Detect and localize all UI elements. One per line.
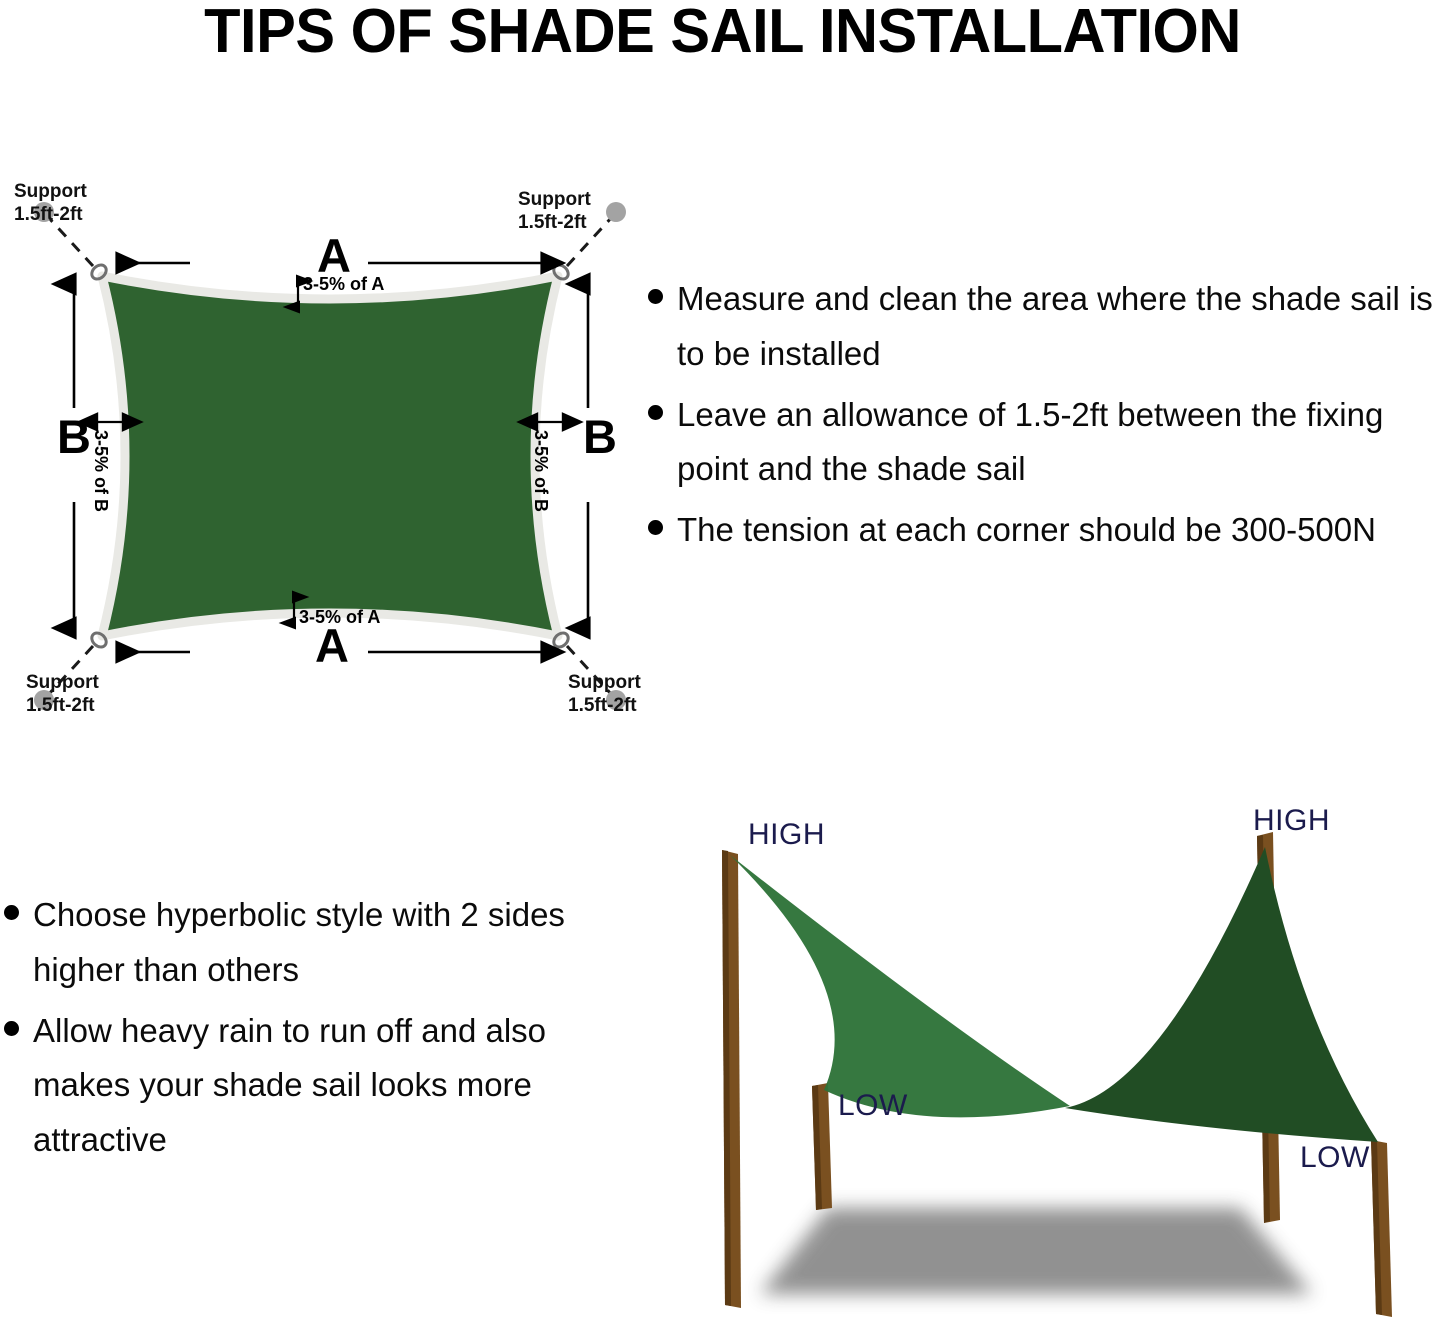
bullet-dot-icon (4, 1021, 19, 1036)
dimension-letter-bottom-a: A (315, 622, 349, 669)
corner-label-high-right: HIGH (1253, 804, 1330, 838)
bullet-dot-icon (648, 289, 663, 304)
list-item: Allow heavy rain to run off and also mak… (4, 1004, 612, 1168)
list-item-text: Measure and clean the area where the sha… (677, 272, 1445, 382)
post-low-left (812, 1083, 832, 1210)
support-label-line2: 1.5ft-2ft (26, 695, 95, 716)
dimension-letter-top-a: A (317, 232, 351, 279)
bullet-dot-icon (4, 905, 19, 920)
corner-label-low-right: LOW (1300, 1141, 1370, 1175)
tips-list-right: Measure and clean the area where the sha… (648, 272, 1445, 564)
support-label-line1: Support (14, 181, 87, 202)
bullet-dot-icon (648, 405, 663, 420)
infographic-page: TIPS OF SHADE SAIL INSTALLATION (0, 0, 1445, 1319)
list-item-text: The tension at each corner should be 300… (677, 503, 1445, 558)
dimension-letter-right-b: B (583, 413, 617, 460)
hyperbolic-sail-diagram (640, 790, 1445, 1319)
dimension-letter-left-b: B (57, 413, 91, 460)
shade-sail-shape (102, 276, 558, 636)
support-label-line1: Support (26, 672, 99, 693)
support-label-line2: 1.5ft-2ft (14, 204, 83, 225)
tolerance-label-bottom: 3-5% of A (299, 608, 380, 626)
tips-list-left: Choose hyperbolic style with 2 sides hig… (4, 888, 612, 1174)
list-item-text: Choose hyperbolic style with 2 sides hig… (33, 888, 612, 998)
post-low-right (1371, 1140, 1392, 1317)
support-label-top-left: Support1.5ft-2ft (14, 180, 87, 226)
list-item: Leave an allowance of 1.5-2ft between th… (648, 388, 1445, 498)
corner-label-high-left: HIGH (748, 818, 825, 852)
support-label-line2: 1.5ft-2ft (568, 695, 637, 716)
bullet-dot-icon (648, 520, 663, 535)
support-label-line1: Support (568, 672, 641, 693)
list-item-text: Leave an allowance of 1.5-2ft between th… (677, 388, 1445, 498)
list-item-text: Allow heavy rain to run off and also mak… (33, 1004, 612, 1168)
list-item: The tension at each corner should be 300… (648, 503, 1445, 558)
support-label-bottom-right: Support1.5ft-2ft (568, 671, 641, 717)
post-high-left (722, 850, 741, 1308)
support-label-bottom-left: Support1.5ft-2ft (26, 671, 99, 717)
corner-label-low-left: LOW (838, 1089, 908, 1123)
support-label-top-right: Support1.5ft-2ft (518, 188, 591, 234)
tolerance-label-top: 3-5% of A (303, 275, 384, 293)
page-title: TIPS OF SHADE SAIL INSTALLATION (29, 0, 1416, 67)
list-item: Choose hyperbolic style with 2 sides hig… (4, 888, 612, 998)
list-item: Measure and clean the area where the sha… (648, 272, 1445, 382)
support-label-line1: Support (518, 189, 591, 210)
ground-shadow (760, 1208, 1312, 1294)
support-label-line2: 1.5ft-2ft (518, 212, 587, 233)
tolerance-label-left: 3-5% of B (92, 430, 110, 512)
tolerance-label-right: 3-5% of B (532, 430, 550, 512)
